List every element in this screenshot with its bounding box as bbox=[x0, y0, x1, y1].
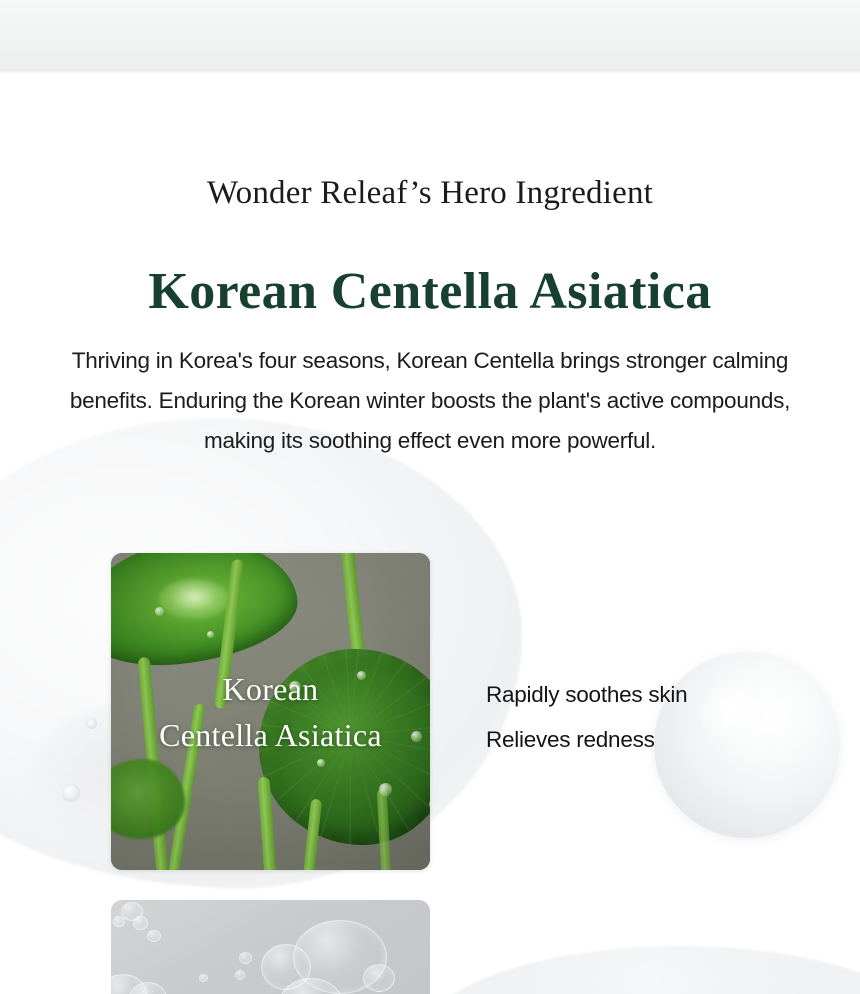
benefit-item-1: Rapidly soothes skin bbox=[486, 672, 816, 717]
page-title: Korean Centella Asiatica bbox=[0, 259, 860, 325]
gel-bubble bbox=[147, 930, 161, 942]
benefit-item-2: Relieves redness bbox=[486, 717, 816, 762]
top-gradient-band bbox=[0, 0, 860, 72]
eyebrow-heading: Wonder Releaf’s Hero Ingredient bbox=[0, 172, 860, 214]
hero-ingredient-card: Korean Centella Asiatica bbox=[111, 553, 430, 870]
soft-gel-blob-bottom bbox=[420, 946, 860, 994]
gel-texture-card bbox=[111, 900, 430, 994]
gel-bubble bbox=[235, 970, 245, 980]
product-detail-page: Wonder Releaf’s Hero Ingredient Korean C… bbox=[0, 0, 860, 994]
hero-caption-line-1: Korean bbox=[223, 666, 319, 712]
decorative-bubble bbox=[86, 718, 97, 729]
decorative-bubble bbox=[62, 784, 80, 802]
hero-caption-line-2: Centella Asiatica bbox=[159, 712, 382, 758]
hero-card-caption: Korean Centella Asiatica bbox=[111, 553, 430, 870]
gel-bubble bbox=[133, 916, 148, 930]
gel-bubble bbox=[363, 964, 395, 992]
gel-bubble bbox=[113, 916, 125, 927]
benefits-list: Rapidly soothes skin Relieves redness bbox=[486, 672, 816, 762]
gel-bubble bbox=[199, 974, 208, 982]
top-band-edge bbox=[0, 70, 860, 74]
gel-bubble bbox=[239, 952, 252, 964]
intro-paragraph: Thriving in Korea's four seasons, Korean… bbox=[58, 341, 802, 461]
